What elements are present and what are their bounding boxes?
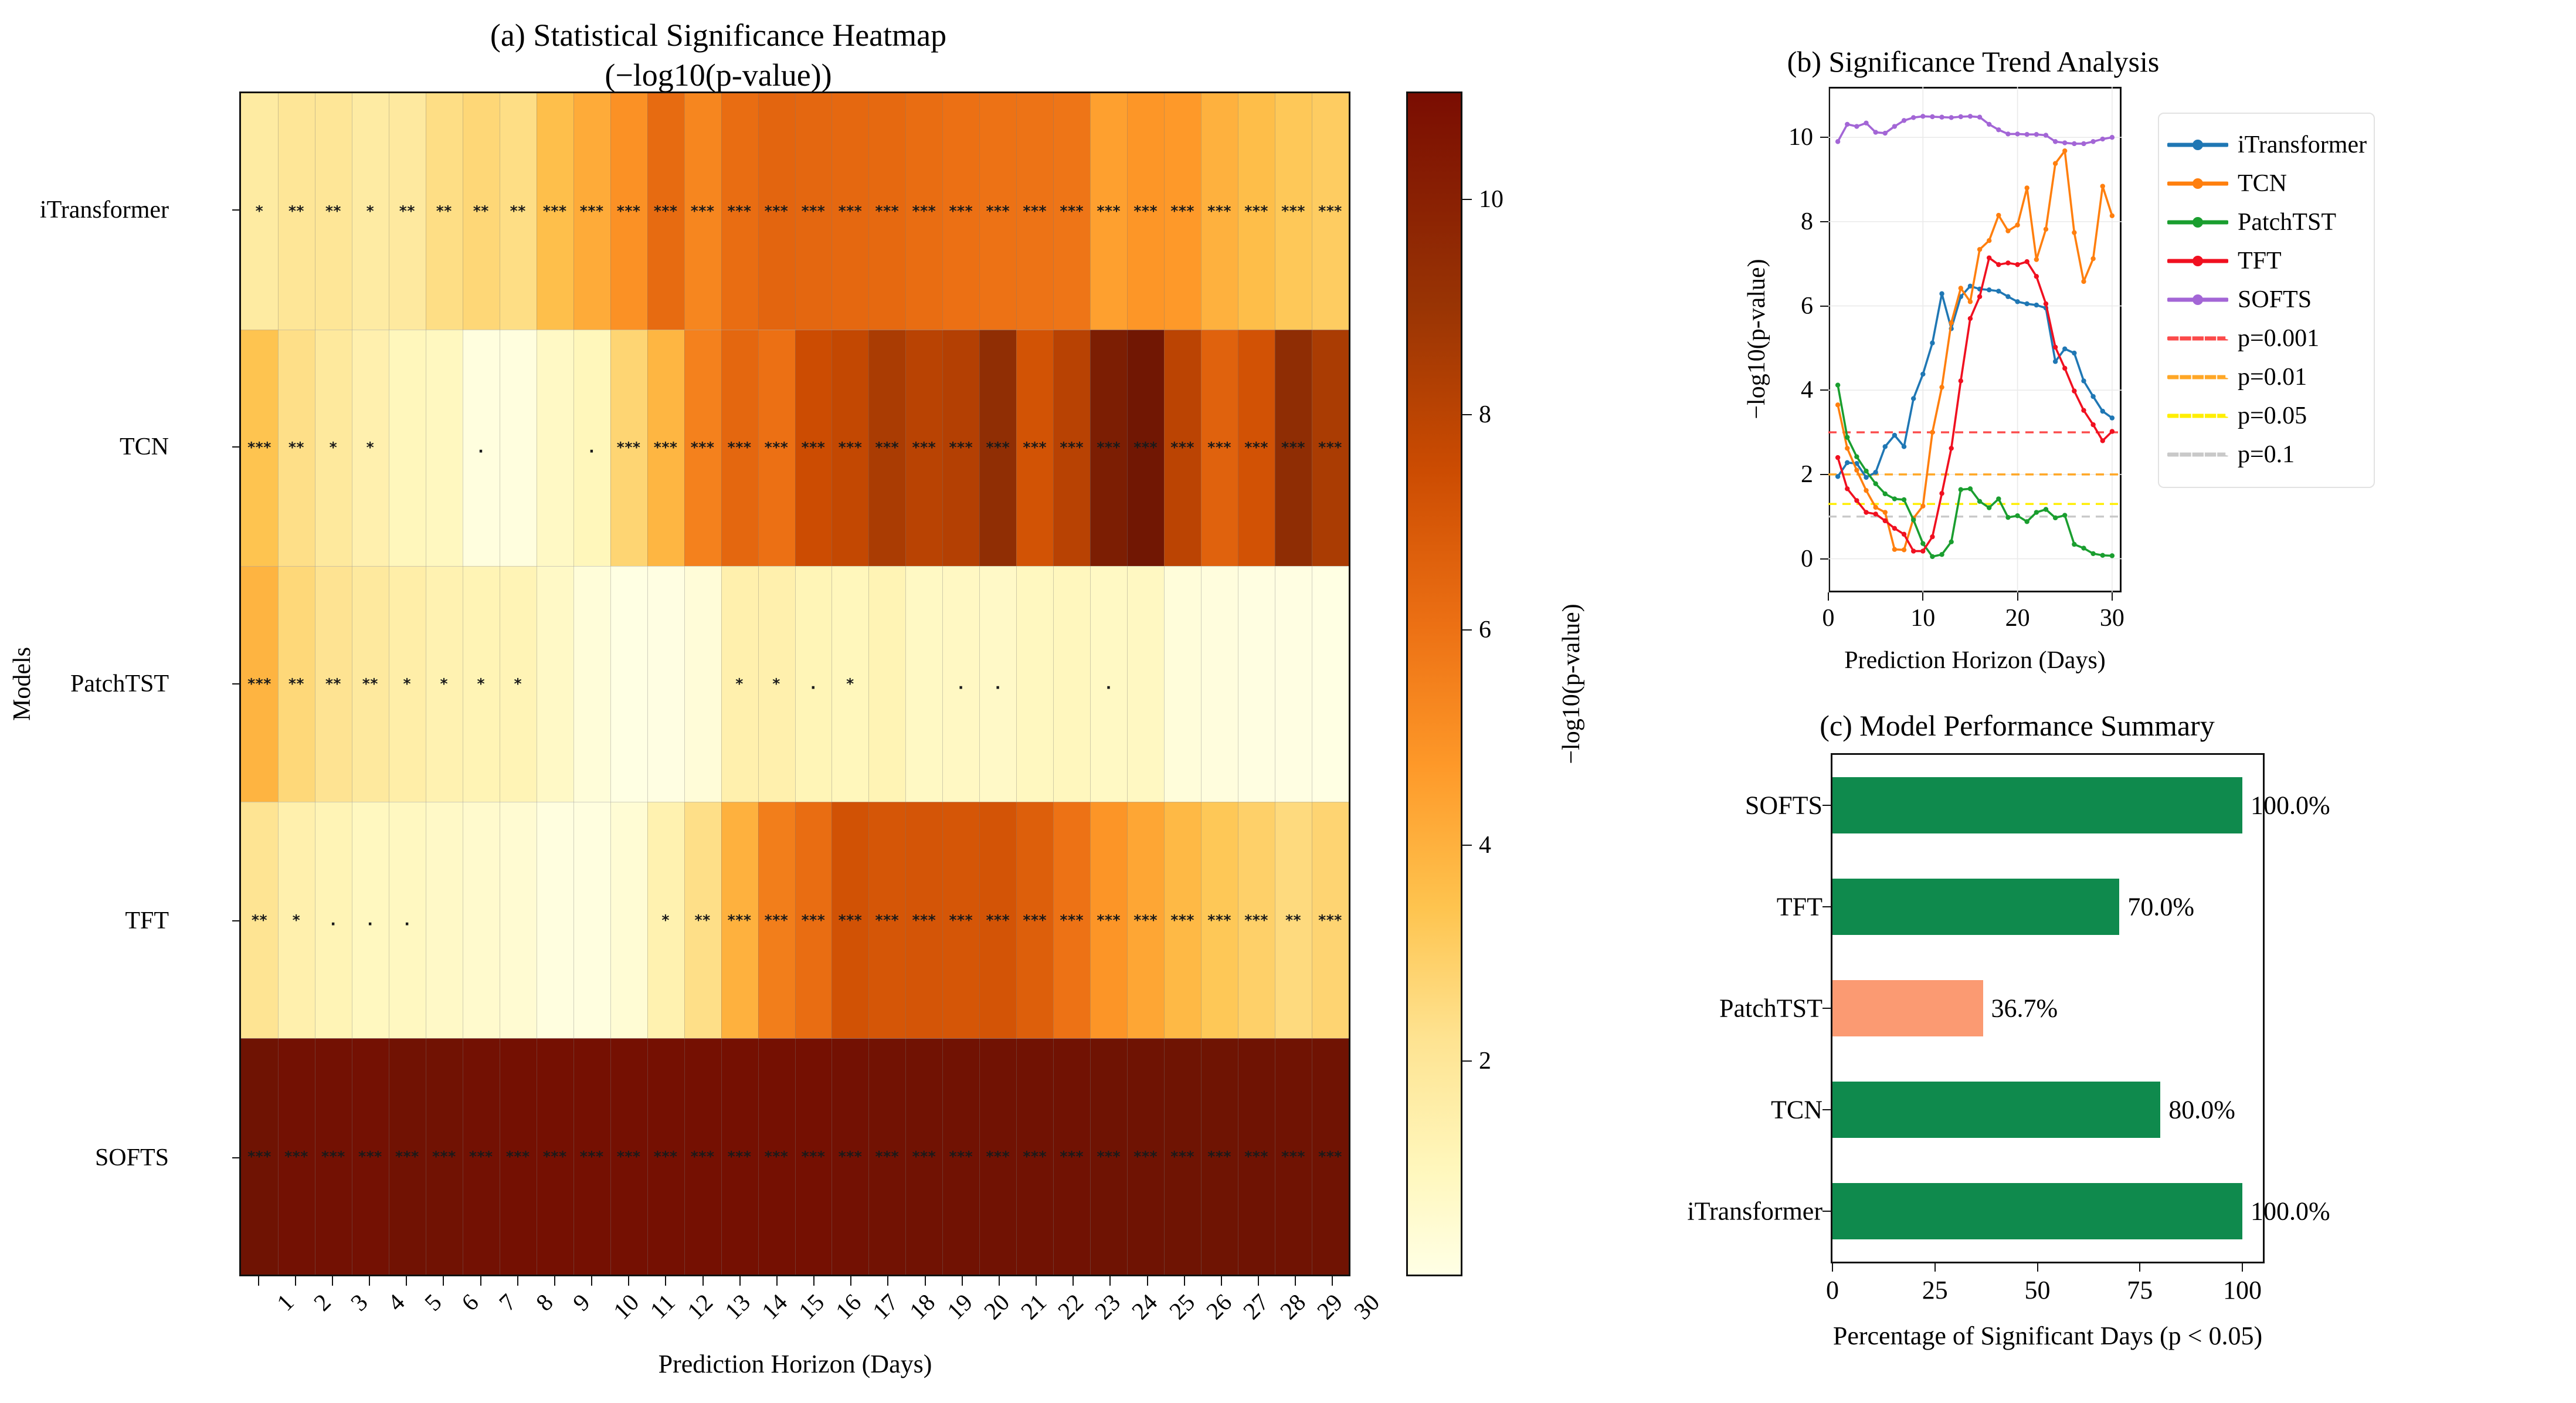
line-point bbox=[1883, 492, 1888, 496]
line-point bbox=[1873, 511, 1878, 516]
heatmap-cell[interactable]: *** bbox=[942, 802, 979, 1038]
heatmap-cell[interactable]: *** bbox=[979, 1038, 1016, 1275]
heatmap-cell[interactable]: *** bbox=[1090, 802, 1127, 1038]
heatmap-cell[interactable]: . bbox=[573, 330, 610, 566]
heatmap-cell[interactable]: *** bbox=[1312, 93, 1349, 330]
heatmap-cell[interactable]: *** bbox=[1016, 330, 1053, 566]
heatmap-x-tick bbox=[665, 1276, 666, 1286]
bar-chart-y-label-itransformer: iTransformer bbox=[1687, 1196, 1822, 1226]
line-point bbox=[1883, 510, 1888, 514]
heatmap-cell-annotation: ** bbox=[362, 676, 378, 691]
heatmap-cell[interactable] bbox=[610, 566, 647, 802]
heatmap-cell[interactable]: *** bbox=[1127, 93, 1164, 330]
heatmap-y-tick bbox=[232, 209, 240, 211]
line-point bbox=[1920, 541, 1925, 545]
heatmap-cell[interactable] bbox=[426, 330, 463, 566]
line-chart-y-tick-label: 2 bbox=[1801, 460, 1813, 489]
heatmap-y-tick bbox=[232, 920, 240, 921]
heatmap-cell[interactable]: . bbox=[315, 802, 352, 1038]
line-chart-x-tick-label: 30 bbox=[2100, 604, 2124, 632]
heatmap-cell[interactable]: *** bbox=[1312, 1038, 1349, 1275]
heatmap-x-tick bbox=[1036, 1276, 1037, 1286]
heatmap-x-label: 1 bbox=[271, 1288, 299, 1316]
heatmap-y-tick bbox=[232, 1157, 240, 1158]
line-point bbox=[2053, 359, 2058, 364]
line-chart-x-tick-label: 0 bbox=[1822, 604, 1835, 632]
heatmap-cell[interactable]: . bbox=[979, 566, 1016, 802]
heatmap-cell[interactable]: ** bbox=[315, 93, 352, 330]
heatmap-cell-annotation: *** bbox=[1133, 913, 1158, 927]
line-series-tcn bbox=[1838, 151, 2112, 550]
heatmap-cell[interactable]: * bbox=[721, 566, 758, 802]
legend-swatch bbox=[2167, 408, 2228, 423]
heatmap-cell[interactable]: *** bbox=[905, 802, 942, 1038]
heatmap-cell[interactable]: ** bbox=[684, 802, 721, 1038]
heatmap-gridline bbox=[241, 1038, 1349, 1039]
heatmap-cell[interactable] bbox=[1016, 566, 1053, 802]
heatmap-cell[interactable] bbox=[537, 566, 573, 802]
bar-chart-y-tick bbox=[1822, 1109, 1831, 1110]
line-point bbox=[2053, 139, 2058, 144]
heatmap-cell[interactable]: *** bbox=[1053, 1038, 1090, 1275]
heatmap-cell[interactable]: *** bbox=[1053, 802, 1090, 1038]
line-point bbox=[1845, 460, 1849, 465]
heatmap-cell[interactable] bbox=[1053, 566, 1090, 802]
line-point bbox=[2005, 515, 2010, 520]
heatmap-cell[interactable]: *** bbox=[684, 330, 721, 566]
heatmap-cell[interactable]: ** bbox=[389, 93, 426, 330]
heatmap-cell[interactable]: *** bbox=[1164, 1038, 1201, 1275]
heatmap-cell[interactable]: *** bbox=[942, 93, 979, 330]
colorbar-tick-label: 4 bbox=[1479, 831, 1491, 859]
line-point bbox=[1892, 124, 1897, 128]
heatmap-gridline bbox=[241, 330, 1349, 330]
line-point bbox=[1987, 505, 1991, 510]
heatmap-cell[interactable] bbox=[389, 330, 426, 566]
heatmap-cell[interactable]: *** bbox=[1016, 93, 1053, 330]
colorbar-tick bbox=[1462, 1060, 1472, 1062]
heatmap-cell[interactable]: * bbox=[426, 566, 463, 802]
heatmap-cell[interactable]: *** bbox=[758, 330, 795, 566]
heatmap-cell[interactable] bbox=[610, 802, 647, 1038]
heatmap-cell[interactable]: ** bbox=[426, 93, 463, 330]
line-point bbox=[1873, 505, 1878, 510]
heatmap-cell[interactable]: ** bbox=[500, 93, 537, 330]
line-point bbox=[1996, 289, 2001, 293]
heatmap-x-label: 5 bbox=[419, 1288, 447, 1316]
legend-item-p-0-001[interactable]: p=0.001 bbox=[2167, 319, 2365, 358]
heatmap-cell[interactable]: *** bbox=[1275, 330, 1312, 566]
heatmap-cell[interactable]: *** bbox=[1275, 93, 1312, 330]
line-point bbox=[1959, 286, 1963, 290]
heatmap-cell-annotation: * bbox=[514, 676, 522, 691]
heatmap-cell[interactable]: * bbox=[831, 566, 868, 802]
bar-softs[interactable] bbox=[1832, 777, 2242, 833]
heatmap-cell[interactable] bbox=[573, 566, 610, 802]
heatmap-cell[interactable]: *** bbox=[684, 93, 721, 330]
heatmap-cell[interactable]: *** bbox=[831, 93, 868, 330]
line-point bbox=[2062, 140, 2067, 145]
line-point bbox=[2015, 299, 2020, 304]
legend-label: p=0.1 bbox=[2238, 442, 2295, 467]
line-point bbox=[1977, 294, 1982, 299]
line-point bbox=[1939, 292, 1944, 296]
heatmap-cell[interactable]: *** bbox=[500, 1038, 537, 1275]
line-point bbox=[2025, 132, 2029, 137]
heatmap-cell[interactable]: *** bbox=[1164, 93, 1201, 330]
bar-tft[interactable] bbox=[1832, 879, 2119, 935]
heatmap-cell-annotation: *** bbox=[654, 440, 678, 455]
legend-item-tft[interactable]: TFT bbox=[2167, 242, 2365, 280]
line-point bbox=[1835, 455, 1840, 460]
heatmap-cell-annotation: *** bbox=[1244, 204, 1268, 219]
heatmap-cell[interactable]: *** bbox=[352, 1038, 389, 1275]
line-point bbox=[1854, 454, 1859, 459]
heatmap-cell[interactable] bbox=[537, 330, 573, 566]
line-point bbox=[2015, 131, 2020, 136]
line-point bbox=[1977, 247, 1982, 252]
colorbar-tick-label: 6 bbox=[1479, 616, 1491, 644]
legend-item-itransformer[interactable]: iTransformer bbox=[2167, 126, 2365, 164]
heatmap-cell[interactable]: *** bbox=[1090, 93, 1127, 330]
heatmap-cell-annotation: *** bbox=[912, 204, 936, 219]
heatmap-cell[interactable]: *** bbox=[573, 93, 610, 330]
legend-label: iTransformer bbox=[2238, 133, 2367, 157]
heatmap-cell[interactable]: *** bbox=[795, 802, 832, 1038]
heatmap-cell-annotation: *** bbox=[654, 204, 678, 219]
colorbar-tick bbox=[1462, 414, 1472, 415]
bar-chart-y-label-tft: TFT bbox=[1777, 892, 1822, 922]
heatmap-cell[interactable] bbox=[1312, 566, 1349, 802]
heatmap-x-label: 9 bbox=[567, 1288, 595, 1316]
heatmap-cell-annotation: *** bbox=[1207, 204, 1231, 219]
heatmap-cell-annotation: *** bbox=[986, 204, 1010, 219]
heatmap-cell[interactable]: *** bbox=[942, 1038, 979, 1275]
heatmap-cell-annotation: *** bbox=[1318, 913, 1342, 927]
heatmap-cell-annotation: *** bbox=[1244, 440, 1268, 455]
line-point bbox=[1920, 548, 1925, 553]
heatmap-cell-annotation: *** bbox=[802, 913, 826, 927]
line-point bbox=[1883, 444, 1888, 449]
heatmap-cell[interactable]: . bbox=[389, 802, 426, 1038]
heatmap-cell[interactable]: *** bbox=[758, 802, 795, 1038]
line-point bbox=[1835, 139, 1840, 144]
heatmap-x-label: 29 bbox=[1311, 1288, 1348, 1325]
heatmap-cell[interactable]: *** bbox=[942, 330, 979, 566]
heatmap-cell[interactable] bbox=[1201, 566, 1238, 802]
heatmap-cell[interactable]: . bbox=[795, 566, 832, 802]
heatmap-cell[interactable]: ** bbox=[241, 802, 278, 1038]
heatmap-cell-annotation: *** bbox=[1318, 204, 1342, 219]
legend-line bbox=[2167, 414, 2228, 418]
heatmap-gridline bbox=[426, 93, 426, 1275]
heatmap-cell-annotation: *** bbox=[432, 1149, 456, 1164]
heatmap-cell[interactable]: *** bbox=[610, 1038, 647, 1275]
heatmap-x-label: 19 bbox=[941, 1288, 978, 1325]
line-point bbox=[1949, 115, 1953, 120]
panel-b-title: (b) Significance Trend Analysis bbox=[1787, 45, 2160, 79]
line-point bbox=[2034, 257, 2039, 262]
heatmap-cell[interactable]: *** bbox=[905, 1038, 942, 1275]
heatmap-cell[interactable]: *** bbox=[868, 1038, 905, 1275]
heatmap-cell[interactable]: *** bbox=[795, 1038, 832, 1275]
heatmap-cell[interactable]: *** bbox=[1312, 802, 1349, 1038]
bar-chart-x-tick bbox=[1832, 1263, 1833, 1272]
bar-value-label: 36.7% bbox=[1991, 994, 2058, 1024]
heatmap-cell[interactable] bbox=[684, 566, 721, 802]
heatmap-cell[interactable] bbox=[463, 802, 500, 1038]
line-point bbox=[1930, 341, 1934, 345]
heatmap-cell[interactable]: * bbox=[352, 330, 389, 566]
heatmap-cell[interactable]: ** bbox=[278, 330, 315, 566]
heatmap-cell[interactable]: *** bbox=[1201, 330, 1238, 566]
heatmap-cell[interactable]: * bbox=[241, 93, 278, 330]
heatmap-cell[interactable]: * bbox=[500, 566, 537, 802]
line-point bbox=[2062, 148, 2067, 153]
heatmap-cell[interactable]: *** bbox=[831, 1038, 868, 1275]
heatmap-cell-annotation: *** bbox=[691, 440, 715, 455]
heatmap-cell-annotation: *** bbox=[802, 204, 826, 219]
heatmap-cell[interactable]: *** bbox=[1238, 802, 1275, 1038]
legend-item-p-0-05[interactable]: p=0.05 bbox=[2167, 396, 2365, 435]
heatmap-cell[interactable]: * bbox=[758, 566, 795, 802]
line-point bbox=[1939, 491, 1944, 496]
line-point bbox=[1902, 497, 1906, 502]
heatmap-cell[interactable]: ** bbox=[352, 566, 389, 802]
heatmap-cell[interactable]: *** bbox=[831, 802, 868, 1038]
line-point bbox=[2072, 542, 2076, 547]
heatmap-cell[interactable]: *** bbox=[979, 93, 1016, 330]
legend-swatch bbox=[2167, 215, 2228, 230]
heatmap-cell[interactable]: *** bbox=[241, 566, 278, 802]
heatmap-cell[interactable]: *** bbox=[1016, 1038, 1053, 1275]
heatmap-cell[interactable]: ** bbox=[315, 566, 352, 802]
heatmap-cell[interactable]: * bbox=[647, 802, 684, 1038]
heatmap-cell[interactable] bbox=[1238, 566, 1275, 802]
heatmap-gridline bbox=[831, 93, 832, 1275]
line-point bbox=[1977, 499, 1982, 504]
line-point bbox=[1835, 402, 1840, 407]
heatmap-cell[interactable]: *** bbox=[278, 1038, 315, 1275]
heatmap-cell[interactable]: * bbox=[352, 93, 389, 330]
heatmap-x-axis-title: Prediction Horizon (Days) bbox=[659, 1349, 932, 1379]
legend-swatch bbox=[2167, 253, 2228, 269]
heatmap-cell-annotation: *** bbox=[580, 1149, 604, 1164]
legend-swatch bbox=[2167, 292, 2228, 307]
line-point bbox=[1864, 469, 1868, 473]
legend-label: TCN bbox=[2238, 171, 2287, 196]
legend-line bbox=[2167, 337, 2228, 341]
heatmap-cell[interactable]: ** bbox=[278, 566, 315, 802]
heatmap-cell[interactable]: *** bbox=[1127, 802, 1164, 1038]
panel-c-bar-chart: (c) Model Performance Summary 100.0%80.0… bbox=[1642, 692, 2576, 1403]
line-point bbox=[1835, 474, 1840, 479]
line-point bbox=[1996, 213, 2001, 218]
heatmap-cell-annotation: ** bbox=[1285, 913, 1301, 927]
line-point bbox=[2100, 137, 2105, 141]
heatmap-cell[interactable]: *** bbox=[1090, 330, 1127, 566]
heatmap-cell-annotation: *** bbox=[1281, 440, 1305, 455]
heatmap-cell[interactable]: *** bbox=[463, 1038, 500, 1275]
panel-a-heatmap: (a) Statistical Significance Heatmap (−l… bbox=[0, 0, 1642, 1403]
heatmap-cell[interactable]: *** bbox=[315, 1038, 352, 1275]
colorbar-tick-label: 10 bbox=[1479, 185, 1503, 213]
heatmap-cell[interactable]: *** bbox=[1053, 93, 1090, 330]
heatmap-cell[interactable]: *** bbox=[795, 330, 832, 566]
heatmap-cell[interactable]: *** bbox=[1201, 93, 1238, 330]
heatmap-cell[interactable] bbox=[868, 566, 905, 802]
heatmap-cell[interactable]: *** bbox=[1127, 330, 1164, 566]
heatmap-cell[interactable]: ** bbox=[1275, 802, 1312, 1038]
heatmap-cell[interactable]: *** bbox=[868, 802, 905, 1038]
bar-tcn[interactable] bbox=[1832, 1082, 2160, 1138]
heatmap-cell[interactable]: * bbox=[278, 802, 315, 1038]
heatmap-cell[interactable]: *** bbox=[868, 93, 905, 330]
panel-a-title-line1: (a) Statistical Significance Heatmap bbox=[490, 15, 946, 55]
heatmap-cell[interactable] bbox=[537, 802, 573, 1038]
heatmap-cell[interactable]: *** bbox=[979, 802, 1016, 1038]
heatmap-x-label: 3 bbox=[345, 1288, 373, 1316]
line-point bbox=[1854, 498, 1859, 503]
heatmap-x-label: 23 bbox=[1089, 1288, 1126, 1325]
heatmap-cell-annotation: *** bbox=[284, 1149, 308, 1164]
heatmap-cell[interactable]: *** bbox=[758, 1038, 795, 1275]
heatmap-cell[interactable] bbox=[500, 802, 537, 1038]
line-point bbox=[2034, 510, 2039, 514]
heatmap-x-label: 22 bbox=[1052, 1288, 1089, 1325]
heatmap-cell[interactable] bbox=[573, 802, 610, 1038]
heatmap-cell[interactable] bbox=[500, 330, 537, 566]
heatmap-cell[interactable]: *** bbox=[647, 93, 684, 330]
heatmap-cell-annotation: *** bbox=[802, 440, 826, 455]
heatmap-cell-annotation: *** bbox=[802, 1149, 826, 1164]
heatmap-cell[interactable]: *** bbox=[647, 330, 684, 566]
legend-item-tcn[interactable]: TCN bbox=[2167, 164, 2365, 203]
line-point bbox=[1911, 548, 1916, 553]
heatmap-cell[interactable]: *** bbox=[426, 1038, 463, 1275]
heatmap-cell[interactable]: *** bbox=[721, 802, 758, 1038]
legend-item-p-0-01[interactable]: p=0.01 bbox=[2167, 358, 2365, 396]
heatmap-cell-annotation: *** bbox=[875, 1149, 900, 1164]
heatmap-cell[interactable]: *** bbox=[1164, 330, 1201, 566]
heatmap-x-tick bbox=[369, 1276, 370, 1286]
heatmap-cell[interactable]: * bbox=[389, 566, 426, 802]
heatmap-cell[interactable]: *** bbox=[241, 330, 278, 566]
heatmap-cell[interactable]: *** bbox=[831, 330, 868, 566]
heatmap-gridline bbox=[241, 802, 1349, 802]
heatmap-cell[interactable]: *** bbox=[1238, 330, 1275, 566]
heatmap-cell[interactable]: ** bbox=[463, 93, 500, 330]
heatmap-cell[interactable]: *** bbox=[1090, 1038, 1127, 1275]
heatmap-cell[interactable]: . bbox=[1090, 566, 1127, 802]
line-point bbox=[1977, 115, 1982, 120]
bar-value-label: 100.0% bbox=[2251, 1196, 2330, 1226]
heatmap-cell[interactable]: *** bbox=[721, 330, 758, 566]
line-point bbox=[1987, 255, 1991, 260]
heatmap-cell[interactable]: *** bbox=[1127, 1038, 1164, 1275]
heatmap-cell[interactable]: *** bbox=[795, 93, 832, 330]
heatmap-y-axis-title: Models bbox=[8, 647, 36, 721]
heatmap-cell[interactable]: *** bbox=[647, 1038, 684, 1275]
heatmap-cell[interactable]: *** bbox=[684, 1038, 721, 1275]
legend-label: PatchTST bbox=[2238, 210, 2336, 235]
line-point bbox=[2110, 415, 2115, 420]
heatmap-cell[interactable]: *** bbox=[1016, 802, 1053, 1038]
heatmap-cell[interactable]: *** bbox=[241, 1038, 278, 1275]
heatmap-cell[interactable]: *** bbox=[537, 1038, 573, 1275]
heatmap-cell-annotation: ** bbox=[325, 676, 341, 691]
legend-item-softs[interactable]: SOFTS bbox=[2167, 280, 2365, 319]
heatmap-x-tick bbox=[1332, 1276, 1333, 1286]
heatmap-cell[interactable] bbox=[1275, 566, 1312, 802]
heatmap-cell[interactable] bbox=[647, 566, 684, 802]
heatmap-cell[interactable]: *** bbox=[1164, 802, 1201, 1038]
heatmap-cell-annotation: *** bbox=[1170, 440, 1194, 455]
heatmap-gridline bbox=[1312, 93, 1312, 1275]
legend-item-patchtst[interactable]: PatchTST bbox=[2167, 203, 2365, 242]
heatmap-cell[interactable]: *** bbox=[905, 93, 942, 330]
bar-itransformer[interactable] bbox=[1832, 1183, 2242, 1239]
line-chart-x-tick-label: 20 bbox=[2005, 604, 2030, 632]
heatmap-cell[interactable]: *** bbox=[389, 1038, 426, 1275]
heatmap-cell[interactable]: *** bbox=[610, 330, 647, 566]
heatmap-x-label: 27 bbox=[1237, 1288, 1274, 1325]
heatmap-cell[interactable]: *** bbox=[721, 93, 758, 330]
heatmap-cell[interactable]: *** bbox=[537, 93, 573, 330]
line-chart-y-tick-label: 10 bbox=[1788, 123, 1813, 151]
heatmap-gridline bbox=[1016, 93, 1017, 1275]
line-point bbox=[1864, 475, 1868, 480]
heatmap-cell-annotation: *** bbox=[691, 1149, 715, 1164]
bar-patchtst[interactable] bbox=[1832, 980, 1983, 1036]
heatmap-cell[interactable]: * bbox=[463, 566, 500, 802]
line-point bbox=[1902, 444, 1906, 449]
heatmap-cell-annotation: . bbox=[995, 676, 1001, 691]
heatmap-cell[interactable]: *** bbox=[1201, 802, 1238, 1038]
heatmap-cell[interactable]: *** bbox=[1275, 1038, 1312, 1275]
line-point bbox=[2053, 345, 2058, 350]
heatmap-x-label: 16 bbox=[830, 1288, 867, 1325]
heatmap-cell[interactable]: *** bbox=[1053, 330, 1090, 566]
heatmap-cell[interactable]: *** bbox=[905, 330, 942, 566]
heatmap-cell[interactable] bbox=[1164, 566, 1201, 802]
line-chart-y-tick-label: 6 bbox=[1801, 292, 1813, 320]
legend-item-p-0-1[interactable]: p=0.1 bbox=[2167, 435, 2365, 474]
heatmap-cell[interactable]: . bbox=[352, 802, 389, 1038]
heatmap-cell[interactable]: *** bbox=[1201, 1038, 1238, 1275]
heatmap-cell[interactable]: *** bbox=[1238, 93, 1275, 330]
heatmap-cell[interactable] bbox=[905, 566, 942, 802]
heatmap-cell[interactable]: *** bbox=[1312, 330, 1349, 566]
heatmap-cell[interactable]: * bbox=[315, 330, 352, 566]
heatmap-cell[interactable]: . bbox=[463, 330, 500, 566]
heatmap-cell[interactable]: ** bbox=[278, 93, 315, 330]
heatmap-cell-annotation: *** bbox=[543, 204, 567, 219]
heatmap-cell[interactable]: *** bbox=[573, 1038, 610, 1275]
heatmap-cell[interactable]: *** bbox=[979, 330, 1016, 566]
heatmap-cell[interactable]: *** bbox=[758, 93, 795, 330]
bar-chart-x-tick-label: 100 bbox=[2223, 1275, 2262, 1305]
heatmap-cell[interactable]: *** bbox=[1238, 1038, 1275, 1275]
heatmap-cell[interactable]: *** bbox=[721, 1038, 758, 1275]
heatmap-cell[interactable] bbox=[426, 802, 463, 1038]
heatmap-cell[interactable] bbox=[1127, 566, 1164, 802]
line-point bbox=[1864, 510, 1868, 514]
heatmap-cell-annotation: ** bbox=[252, 913, 267, 927]
heatmap-cell[interactable]: *** bbox=[610, 93, 647, 330]
heatmap-cell[interactable]: *** bbox=[868, 330, 905, 566]
heatmap-cell[interactable]: . bbox=[942, 566, 979, 802]
